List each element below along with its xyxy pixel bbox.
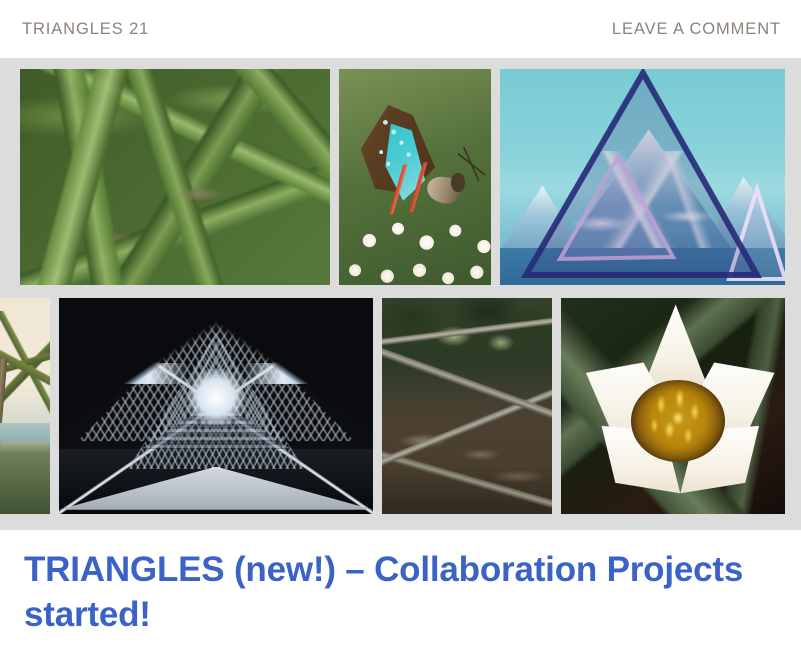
post-title-link[interactable]: TRIANGLES (new!) – Collaboration Project… [24, 550, 743, 634]
gallery-row-1 [20, 69, 785, 285]
aloe-leaves-artwork [20, 69, 330, 285]
triangle-outline-navy [526, 73, 757, 275]
architecture-corridor-photo[interactable] [59, 298, 373, 514]
palm-beach-photo[interactable] [0, 298, 50, 514]
forest-tree-trunks [382, 298, 552, 514]
image-gallery [0, 58, 801, 530]
white-flowers-cluster [339, 199, 491, 285]
corridor-dark-corners [59, 298, 373, 514]
mountain-artwork [500, 69, 785, 285]
gallery-row-2 [0, 298, 785, 514]
palm-fronds [0, 311, 50, 419]
white-tulip-photo[interactable] [561, 298, 785, 514]
sea-horizon [0, 423, 50, 440]
palm-beach-artwork [0, 298, 50, 514]
leave-a-comment-link[interactable]: LEAVE A COMMENT [612, 20, 781, 39]
post-preview-page: TRIANGLES 21 LEAVE A COMMENT [0, 0, 801, 667]
triangle-overlays [500, 69, 785, 285]
architecture-artwork [59, 298, 373, 514]
butterfly-artwork [339, 69, 491, 285]
post-title: TRIANGLES (new!) – Collaboration Project… [0, 548, 801, 638]
butterfly-photo[interactable] [339, 69, 491, 285]
tulip-stamens [636, 384, 720, 457]
butterfly-antennae [458, 147, 485, 182]
post-category-label: TRIANGLES 21 [22, 20, 149, 39]
tulip-artwork [561, 298, 785, 514]
post-meta-row: TRIANGLES 21 LEAVE A COMMENT [0, 0, 801, 58]
mountain-triangles-photo[interactable] [500, 69, 785, 285]
aloe-leaves-photo[interactable] [20, 69, 330, 285]
forest-trees-photo[interactable] [382, 298, 552, 514]
forest-artwork [382, 298, 552, 514]
